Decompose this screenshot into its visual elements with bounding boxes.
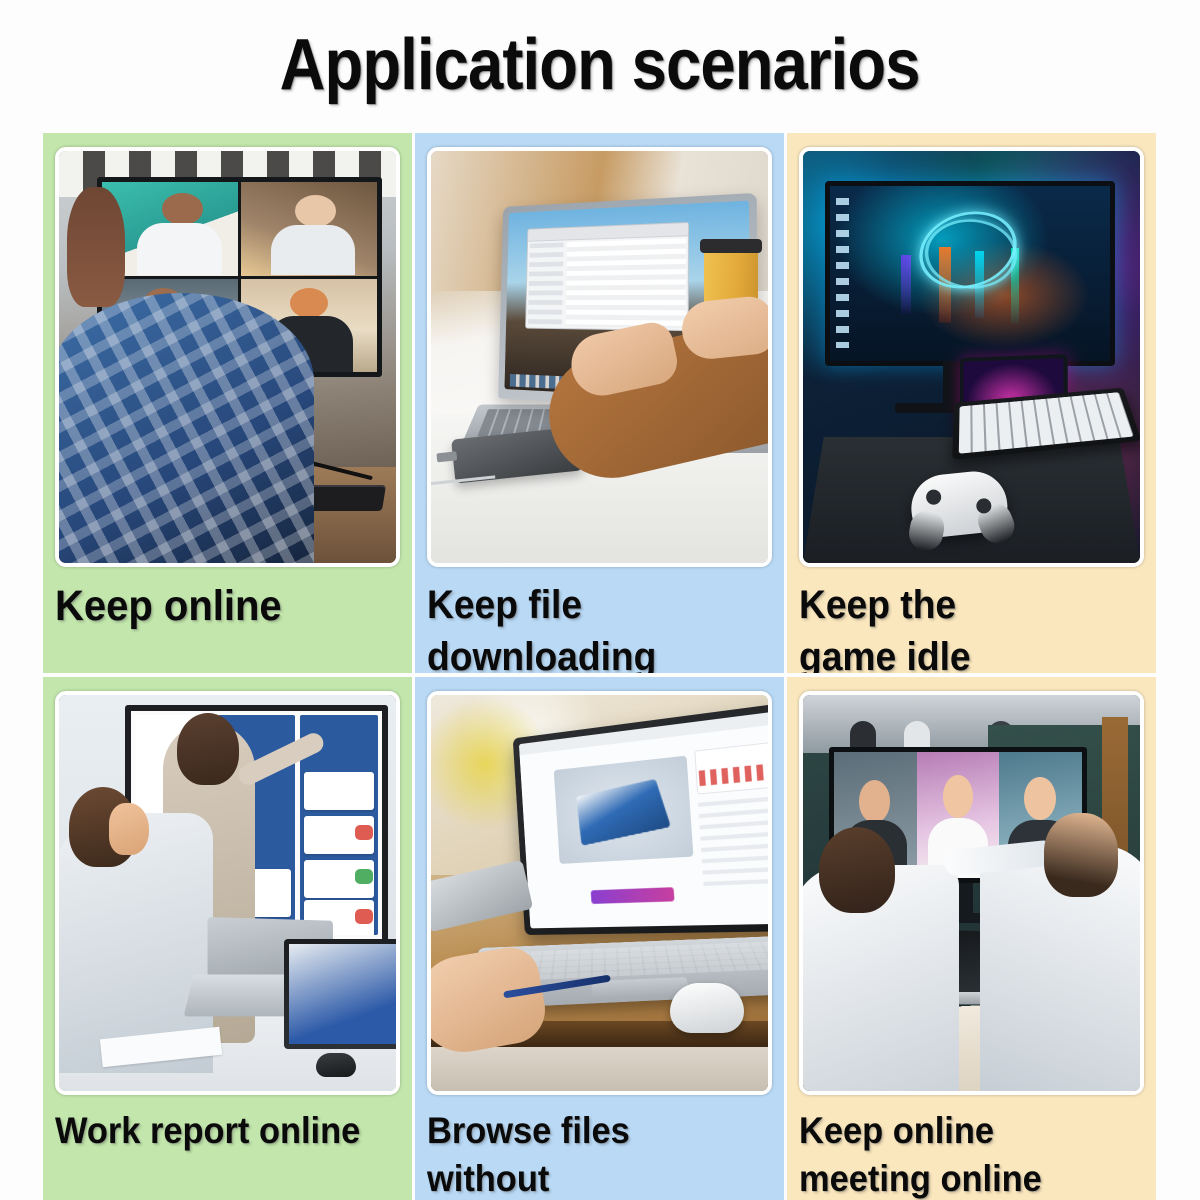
scenario-caption: Keep the game idle xyxy=(799,579,1120,673)
file-manager-window xyxy=(525,222,689,331)
scenario-card-keep-the-game-idle[interactable]: Keep the game idle xyxy=(787,133,1156,673)
presenter-head-shape xyxy=(177,713,239,785)
status-pill xyxy=(355,869,374,884)
scenario-caption: Keep file downloading xyxy=(427,579,748,673)
participant-head-shape xyxy=(162,193,203,225)
page-title: Application scenarios xyxy=(280,26,920,104)
product-object-shape xyxy=(577,779,672,846)
floor-shape xyxy=(431,1045,768,1091)
attendee-right-head-shape xyxy=(1044,813,1118,897)
second-laptop-shape xyxy=(284,939,400,1049)
laptop-screen-shape xyxy=(519,711,772,929)
participant-body-shape xyxy=(137,223,221,275)
scenario-photo-online-meeting xyxy=(799,691,1144,1095)
macbook-browsing-illustration xyxy=(431,695,768,1091)
status-pill xyxy=(355,909,374,924)
status-pill xyxy=(355,825,374,840)
product-image-area xyxy=(553,755,693,863)
scenario-photo-keep-the-game-idle xyxy=(799,147,1144,567)
scenario-card-browse-files-without-hibernation[interactable]: Browse files without hibernation xyxy=(415,677,784,1200)
attendee-left-head-shape xyxy=(819,827,895,913)
seated-colleague-face-shape xyxy=(109,803,149,855)
remote-head-shape xyxy=(1024,777,1055,820)
gaming-monitor-shape xyxy=(825,181,1115,366)
laptop-lid-shape xyxy=(513,702,772,935)
scenario-caption: Keep online xyxy=(55,579,376,635)
text-lines-block xyxy=(698,796,772,888)
coffee-lid-shape xyxy=(700,239,762,253)
scenario-card-work-report-online[interactable]: Work report online xyxy=(43,677,412,1200)
infographic-page: Application scenarios xyxy=(0,0,1200,1200)
hybrid-meeting-illustration xyxy=(803,695,1140,1091)
participant-head-shape xyxy=(290,288,328,318)
sidebar-icons-strip xyxy=(836,198,849,348)
second-laptop-screen xyxy=(289,944,399,1044)
scenario-caption: Work report online xyxy=(55,1107,376,1155)
scenario-photo-keep-file-downloading xyxy=(427,147,772,567)
scenario-photo-browse-files xyxy=(427,691,772,1095)
video-tile xyxy=(241,182,377,276)
foreground-head-shape xyxy=(67,187,125,307)
participant-body-shape xyxy=(271,225,355,275)
video-conference-illustration xyxy=(59,151,396,563)
scenario-photo-keep-online xyxy=(55,147,400,567)
slide-card xyxy=(304,772,374,809)
file-list xyxy=(566,238,686,328)
scenario-grid: Keep online xyxy=(43,133,1157,1200)
cta-button-shape xyxy=(590,888,674,905)
gaming-setup-illustration xyxy=(803,151,1140,563)
remote-head-shape xyxy=(943,775,973,818)
scenario-card-keep-online[interactable]: Keep online xyxy=(43,133,412,673)
scenario-photo-work-report-online xyxy=(55,691,400,1095)
foreground-person-shape xyxy=(55,293,314,563)
window-sidebar xyxy=(528,242,564,326)
scenario-caption: Browse files without hibernation xyxy=(427,1107,748,1200)
mouse-shape xyxy=(670,983,744,1033)
scenario-caption: Keep online meeting online xyxy=(799,1107,1120,1200)
page-title-container: Application scenarios xyxy=(0,26,1200,104)
mouse-shape xyxy=(316,1053,356,1077)
laptop-hub-illustration xyxy=(431,151,768,563)
scenario-card-keep-online-meeting-online[interactable]: Keep online meeting online xyxy=(787,677,1156,1200)
presentation-illustration xyxy=(59,695,396,1091)
participant-head-shape xyxy=(295,195,336,227)
controller-thumbstick xyxy=(925,489,941,505)
scenario-card-keep-file-downloading[interactable]: Keep file downloading xyxy=(415,133,784,673)
remote-head-shape xyxy=(859,780,890,823)
usb-connector-shape xyxy=(436,451,457,462)
